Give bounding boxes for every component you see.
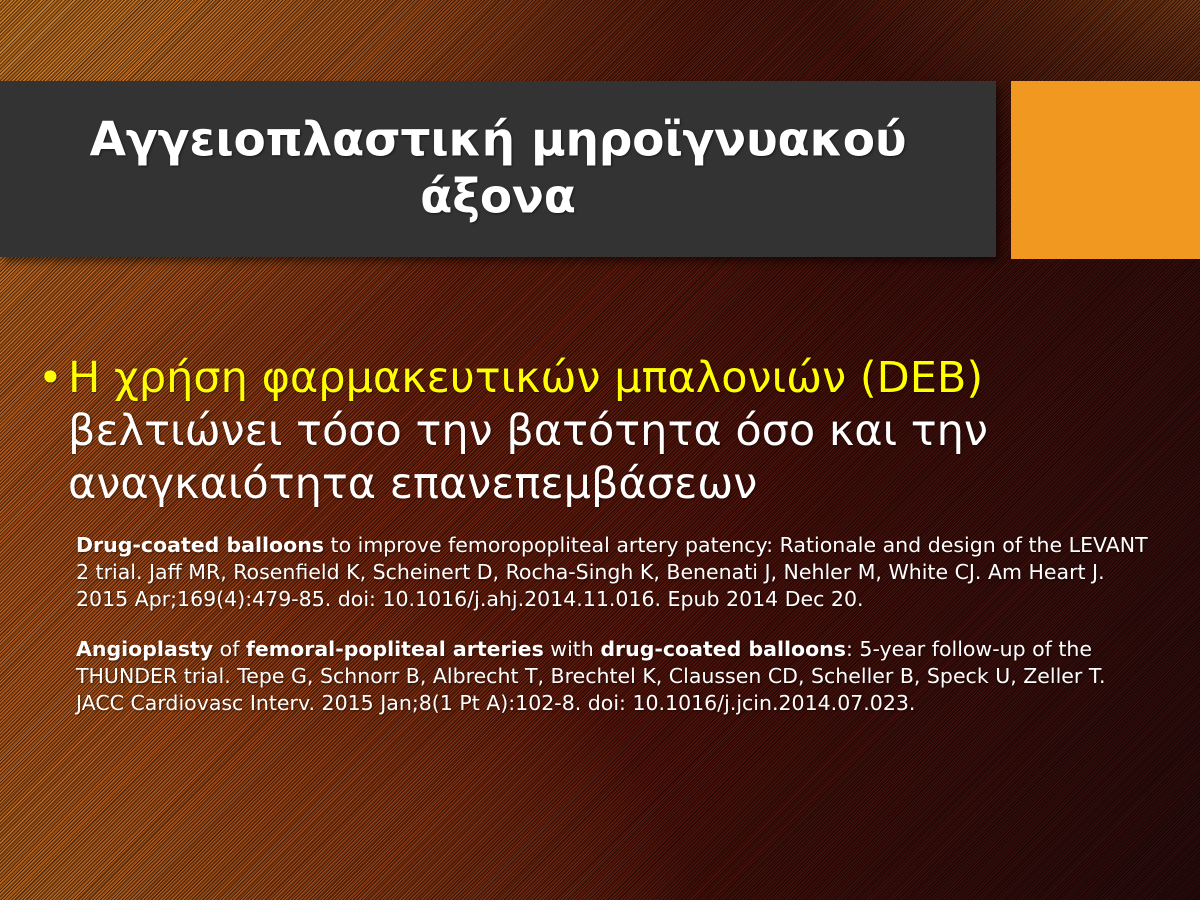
citation-emphasis: Angioplasty — [76, 637, 213, 661]
citation-item: Drug-coated balloons to improve femoropo… — [76, 532, 1158, 613]
slide-title-line-2: άξονα — [420, 170, 576, 225]
lead-text-highlighted: Η χρήση φαρμακευτικών μπαλονιών (DEB) — [68, 353, 983, 403]
bullet-list-item: • Η χρήση φαρμακευτικών μπαλονιών (DEB) … — [38, 352, 1158, 511]
slide-title-line-1: Αγγειοπλαστική μηροϊγνυακού — [90, 113, 907, 168]
citation-item: Angioplasty of femoral-popliteal arterie… — [76, 636, 1158, 717]
bullet-marker-icon: • — [38, 352, 68, 404]
title-band: Αγγειοπλαστική μηροϊγνυακού άξονα — [0, 81, 996, 257]
slide: Αγγειοπλαστική μηροϊγνυακού άξονα • Η χρ… — [0, 0, 1200, 900]
citation-text: with — [544, 637, 601, 661]
citation-emphasis: drug-coated balloons — [600, 637, 846, 661]
orange-accent-block — [1011, 81, 1200, 259]
lead-text-body: βελτιώνει τόσο την βατότητα όσο και την … — [68, 406, 988, 509]
bullet-text-block: Η χρήση φαρμακευτικών μπαλονιών (DEB) βε… — [68, 352, 1158, 511]
slide-title: Αγγειοπλαστική μηροϊγνυακού άξονα — [40, 112, 956, 227]
citation-emphasis: Drug-coated balloons — [76, 533, 324, 557]
citation-text: of — [213, 637, 246, 661]
citation-emphasis: femoral-popliteal arteries — [246, 637, 544, 661]
slide-body: • Η χρήση φαρμακευτικών μπαλονιών (DEB) … — [38, 352, 1158, 737]
citation-list: Drug-coated balloons to improve femoropo… — [38, 532, 1158, 717]
